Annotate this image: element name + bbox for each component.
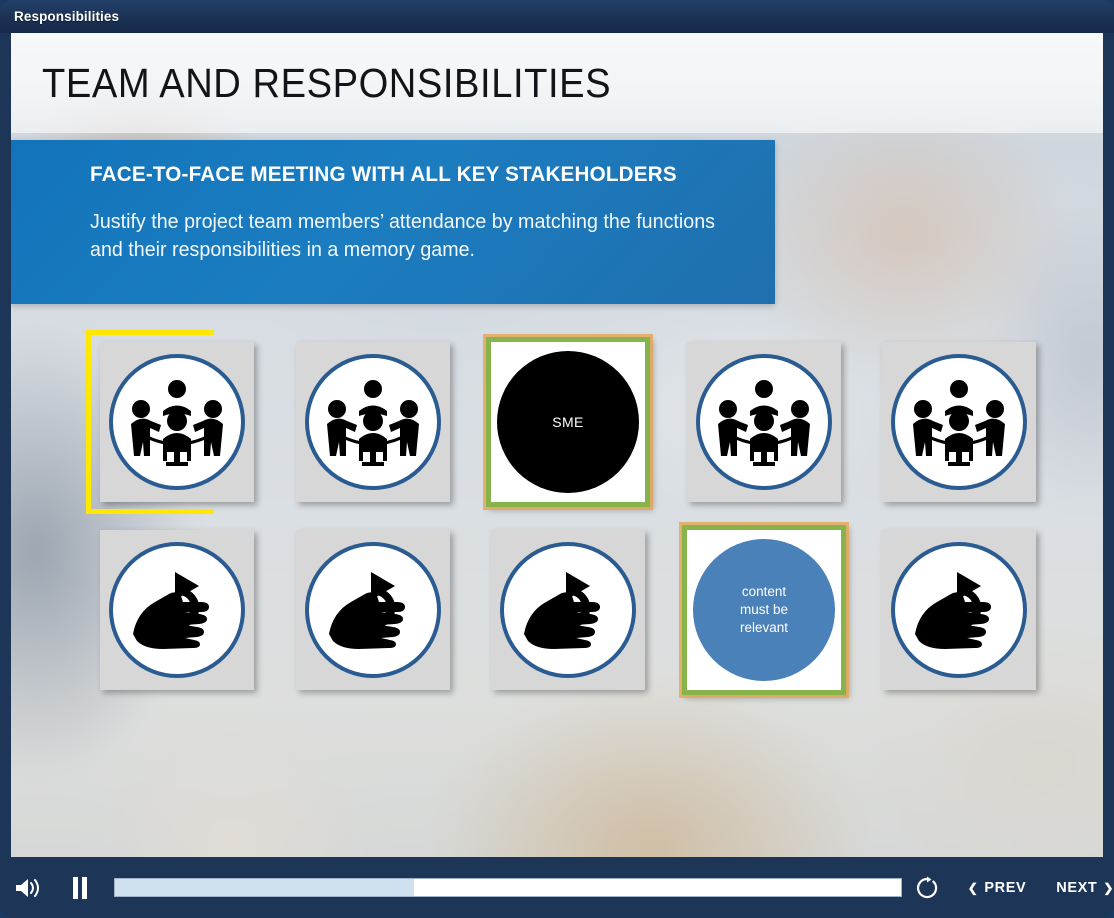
label-line-1: content	[742, 584, 786, 599]
card-back-ring	[891, 542, 1027, 678]
card-row-2: content must be relevant	[100, 530, 1060, 690]
prev-button[interactable]: ❮ PREV	[968, 880, 1027, 896]
caption-panel: FACE-TO-FACE MEETING WITH ALL KEY STAKEH…	[11, 140, 775, 304]
replay-button[interactable]	[914, 875, 940, 901]
card-back-ring	[109, 542, 245, 678]
memory-card-r2c4-flipped[interactable]: content must be relevant	[682, 525, 846, 695]
meeting-table-icon	[125, 376, 229, 468]
caption-body: Justify the project team members’ attend…	[90, 208, 721, 264]
chevron-right-icon: ❯	[1103, 882, 1114, 894]
handover-icon	[321, 568, 425, 652]
memory-card-r1c1[interactable]	[100, 342, 254, 502]
next-button[interactable]: NEXT ❯	[1056, 880, 1114, 896]
meeting-table-icon	[321, 376, 425, 468]
player-title: Responsibilities	[14, 9, 119, 24]
memory-card-r2c3[interactable]	[491, 530, 645, 690]
handover-icon	[516, 568, 620, 652]
blue-circle: content must be relevant	[693, 539, 835, 681]
card-back-ring	[891, 354, 1027, 490]
seek-bar[interactable]	[114, 878, 902, 897]
pause-button[interactable]	[68, 873, 92, 903]
player-control-bar: ❮ PREV NEXT ❯	[0, 857, 1114, 918]
card-back-ring	[305, 542, 441, 678]
meeting-table-icon	[712, 376, 816, 468]
card-back-ring	[696, 354, 832, 490]
card-back-ring	[500, 542, 636, 678]
prev-button-label: PREV	[984, 880, 1026, 896]
label-line-3: relevant	[740, 620, 788, 635]
memory-card-r1c5[interactable]	[882, 342, 1036, 502]
slide-title-band: TEAM AND RESPONSIBILITIES	[11, 33, 1103, 133]
volume-button[interactable]	[12, 873, 42, 903]
meeting-table-icon	[907, 376, 1011, 468]
card-face-label-relevant: content must be relevant	[740, 583, 788, 637]
card-row-1: SME	[100, 342, 1060, 502]
memory-card-r2c2[interactable]	[296, 530, 450, 690]
slide-stage: TEAM AND RESPONSIBILITIES FACE-TO-FACE M…	[11, 33, 1103, 857]
memory-card-r1c3-flipped[interactable]: SME	[486, 337, 650, 507]
player-title-bar: Responsibilities	[0, 0, 1114, 33]
card-back-ring	[109, 354, 245, 490]
memory-card-r2c1[interactable]	[100, 530, 254, 690]
card-back-ring	[305, 354, 441, 490]
memory-card-r1c2[interactable]	[296, 342, 450, 502]
speaker-icon	[14, 877, 40, 899]
chevron-left-icon: ❮	[968, 882, 979, 894]
caption-heading: FACE-TO-FACE MEETING WITH ALL KEY STAKEH…	[90, 162, 721, 187]
memory-card-grid: SME	[100, 342, 1060, 702]
black-circle: SME	[497, 351, 639, 493]
next-button-label: NEXT	[1056, 880, 1097, 896]
card-face-label-sme: SME	[552, 413, 584, 431]
replay-icon	[915, 876, 939, 900]
course-player-frame: Responsibilities TEAM AND RESPONSIBILITI…	[0, 0, 1114, 918]
memory-card-r1c4[interactable]	[687, 342, 841, 502]
seek-progress-fill	[115, 879, 414, 896]
page-title: TEAM AND RESPONSIBILITIES	[42, 60, 611, 107]
memory-card-r2c5[interactable]	[882, 530, 1036, 690]
handover-icon	[125, 568, 229, 652]
handover-icon	[907, 568, 1011, 652]
label-line-2: must be	[740, 602, 788, 617]
pause-icon	[71, 877, 89, 899]
